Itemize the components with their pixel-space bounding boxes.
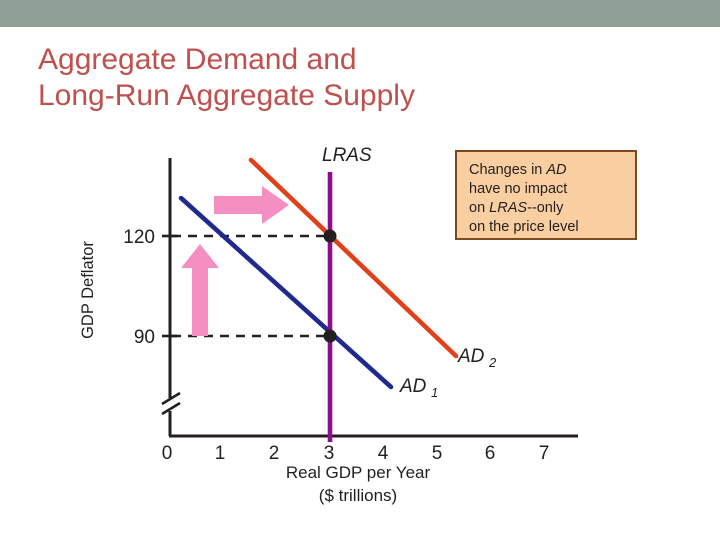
x-tick-label-1: 1 bbox=[215, 443, 226, 464]
x-tick-label-2: 2 bbox=[269, 443, 280, 464]
equilibrium-ad2-lras bbox=[324, 230, 337, 243]
curve-label-ad1: AD 1 bbox=[399, 376, 438, 400]
curve-label-lras: LRAS bbox=[322, 145, 372, 166]
shift-right-arrow bbox=[214, 186, 289, 224]
callout-line-3-post: --only bbox=[527, 200, 563, 216]
callout-line-4: on the price level bbox=[469, 219, 579, 235]
callout-line-3-emphasis: LRAS bbox=[489, 200, 527, 216]
annotation-callout-text: Changes in ADhave no impacton LRAS--only… bbox=[469, 161, 631, 237]
y-tick-label-120: 120 bbox=[123, 227, 155, 248]
callout-line-3-pre: on bbox=[469, 200, 489, 216]
y-axis-label: GDP Deflator bbox=[79, 241, 97, 339]
callout-line-1-pre: Changes in bbox=[469, 162, 546, 178]
svg-text:1: 1 bbox=[431, 385, 438, 400]
x-tick-label-5: 5 bbox=[432, 443, 443, 464]
annotation-callout-box: Changes in ADhave no impacton LRAS--only… bbox=[455, 150, 637, 240]
curve-ad2 bbox=[251, 160, 456, 356]
svg-text:2: 2 bbox=[488, 355, 497, 370]
x-tick-label-3: 3 bbox=[324, 443, 335, 464]
equilibrium-ad1-lras bbox=[324, 330, 337, 343]
svg-text:AD: AD bbox=[399, 376, 427, 397]
chart-figure: 120 90 0 1 2 3 4 5 6 7 GDP Deflator Real… bbox=[0, 0, 720, 539]
curve-label-ad2: AD 2 bbox=[457, 346, 497, 370]
x-tick-label-4: 4 bbox=[378, 443, 389, 464]
x-axis-sublabel: ($ trillions) bbox=[319, 486, 397, 505]
x-tick-label-6: 6 bbox=[485, 443, 496, 464]
x-tick-label-0: 0 bbox=[162, 443, 173, 464]
slide-canvas: Aggregate Demand and Long-Run Aggregate … bbox=[0, 0, 720, 539]
callout-line-2: have no impact bbox=[469, 181, 567, 197]
svg-text:AD: AD bbox=[457, 346, 485, 367]
price-level-up-arrow bbox=[181, 244, 219, 336]
curve-ad1 bbox=[181, 198, 391, 387]
y-tick-label-90: 90 bbox=[134, 327, 155, 348]
x-axis-label: Real GDP per Year bbox=[286, 463, 431, 482]
callout-line-1-emphasis: AD bbox=[546, 162, 566, 178]
x-tick-label-7: 7 bbox=[539, 443, 550, 464]
